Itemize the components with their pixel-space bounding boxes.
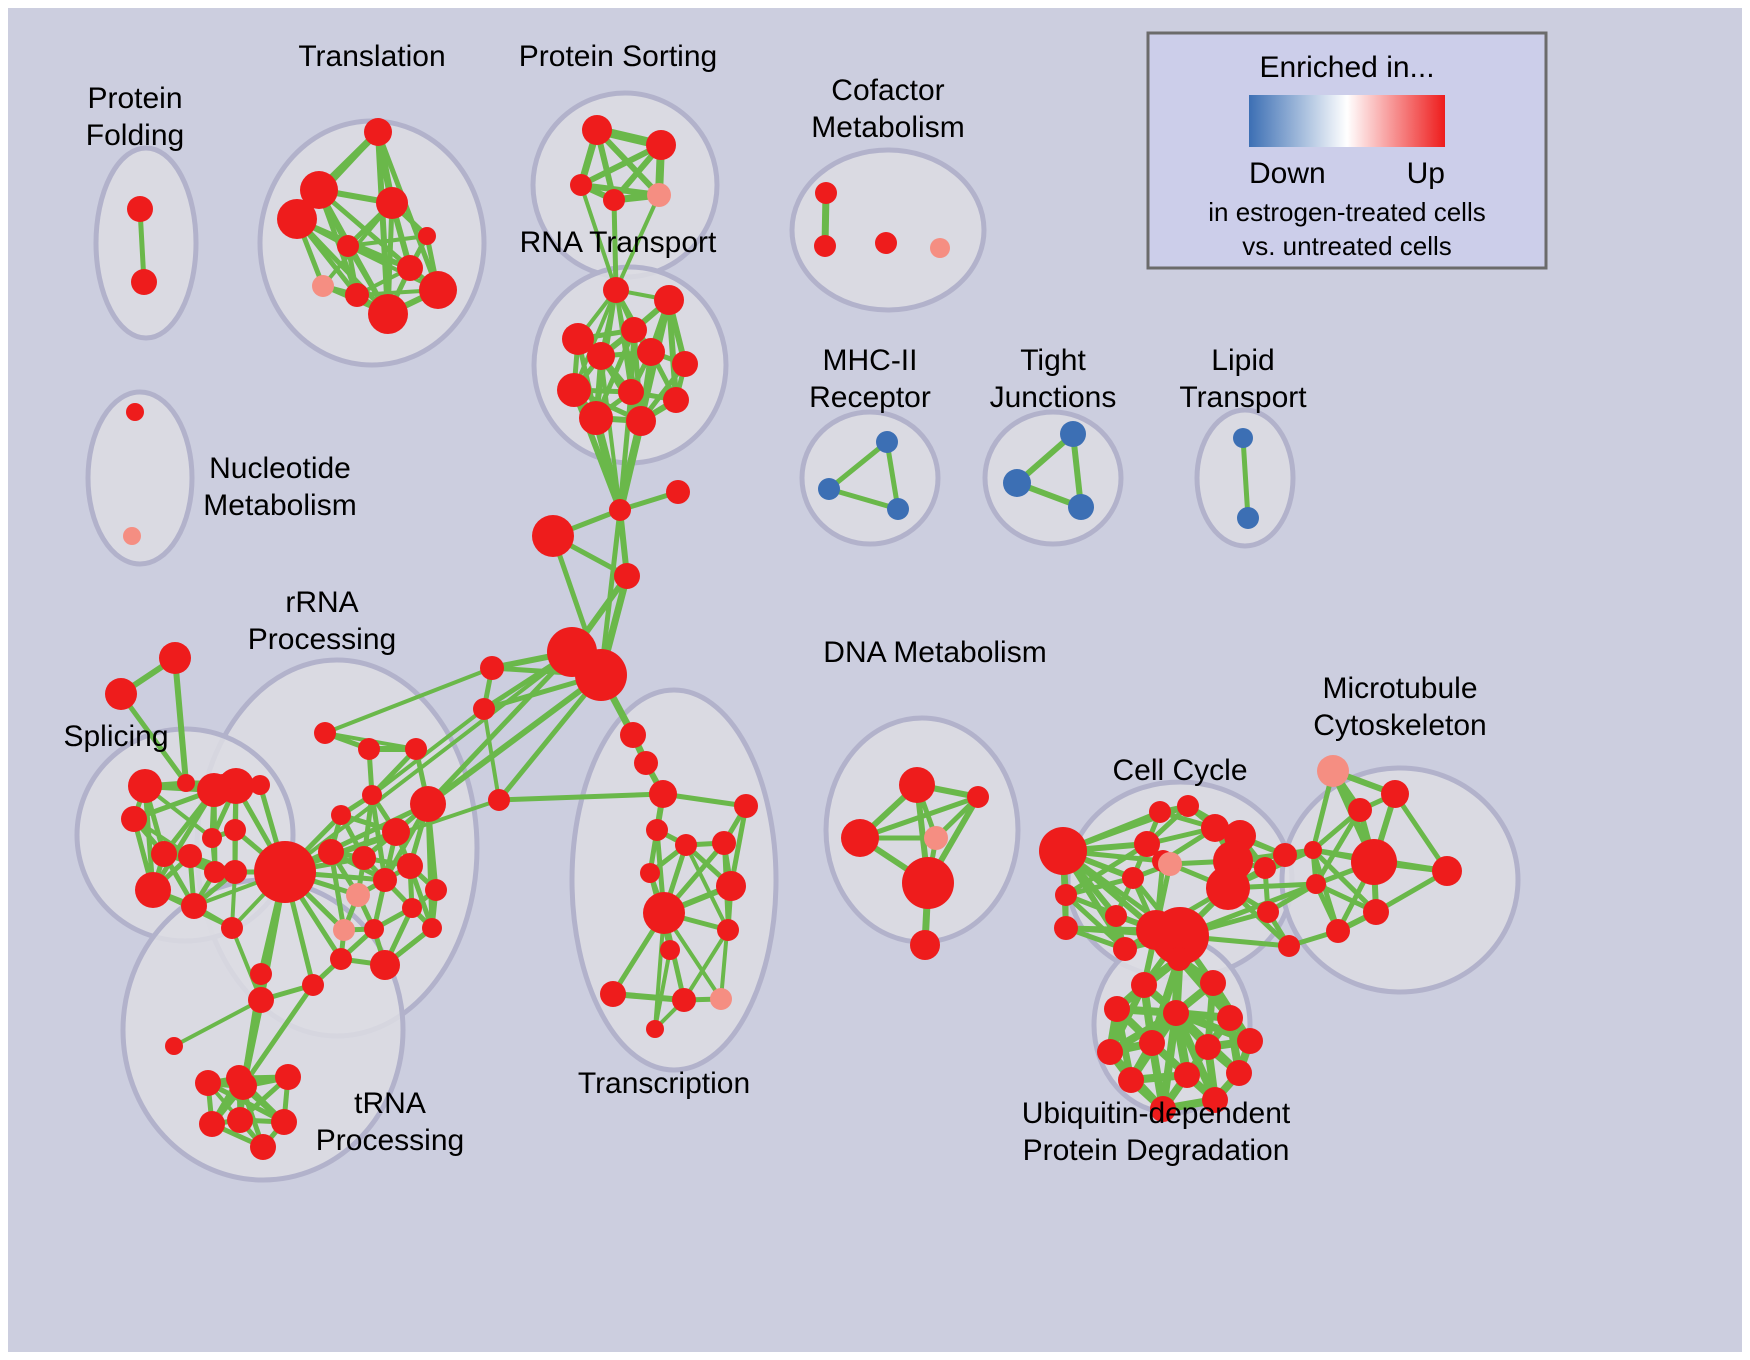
network-node[interactable]	[1003, 469, 1031, 497]
network-node[interactable]	[318, 839, 344, 865]
network-node[interactable]	[910, 930, 940, 960]
network-node[interactable]	[609, 499, 631, 521]
network-node[interactable]	[151, 841, 177, 867]
network-node[interactable]	[358, 738, 380, 760]
network-node[interactable]	[250, 1134, 276, 1160]
network-node[interactable]	[582, 115, 612, 145]
network-node[interactable]	[1226, 1060, 1252, 1086]
network-node[interactable]	[202, 828, 222, 848]
cluster-label-rrna-processing: rRNAProcessing	[248, 586, 396, 656]
legend-label-down: Down	[1249, 157, 1326, 190]
network-node[interactable]	[397, 255, 423, 281]
network-node[interactable]	[364, 118, 392, 146]
network-node[interactable]	[312, 275, 334, 297]
network-node[interactable]	[614, 563, 640, 589]
network-node[interactable]	[1131, 972, 1157, 998]
network-node[interactable]	[1167, 947, 1191, 971]
network-node[interactable]	[226, 1065, 252, 1091]
cluster-label-transcription: Transcription	[578, 1067, 750, 1100]
network-node[interactable]	[345, 283, 369, 307]
network-node[interactable]	[620, 722, 646, 748]
network-node[interactable]	[1139, 1030, 1165, 1056]
network-node[interactable]	[337, 235, 359, 257]
network-node[interactable]	[331, 805, 351, 825]
cluster-ellipse-cofactor-metabolism[interactable]	[792, 150, 984, 310]
network-node[interactable]	[271, 1109, 297, 1135]
network-node[interactable]	[814, 235, 836, 257]
network-node[interactable]	[716, 871, 746, 901]
network-node[interactable]	[422, 918, 442, 938]
network-node[interactable]	[277, 199, 317, 239]
network-node[interactable]	[557, 373, 591, 407]
network-node[interactable]	[1149, 801, 1171, 823]
network-node[interactable]	[643, 892, 685, 934]
network-node[interactable]	[221, 917, 243, 939]
network-node[interactable]	[1273, 843, 1297, 867]
network-node[interactable]	[1113, 937, 1137, 961]
network-node[interactable]	[1206, 866, 1250, 910]
network-node[interactable]	[660, 940, 680, 960]
network-node[interactable]	[603, 189, 625, 211]
network-node[interactable]	[480, 656, 504, 680]
cluster-label-mhc-ii-receptor: MHC-IIReceptor	[809, 344, 931, 414]
network-node[interactable]	[1326, 919, 1350, 943]
cluster-label-tight-junctions: TightJunctions	[990, 344, 1117, 414]
network-node[interactable]	[575, 649, 627, 701]
network-node[interactable]	[654, 285, 684, 315]
network-node[interactable]	[181, 893, 207, 919]
network-node[interactable]	[646, 1020, 664, 1038]
cluster-label-microtubule-cytoskeleton: MicrotubuleCytoskeleton	[1313, 672, 1486, 742]
network-node[interactable]	[717, 919, 739, 941]
network-node[interactable]	[1122, 867, 1144, 889]
network-node[interactable]	[1104, 996, 1130, 1022]
network-node[interactable]	[532, 515, 574, 557]
cluster-label-lipid-transport: LipidTransport	[1179, 344, 1307, 414]
network-node[interactable]	[195, 1070, 221, 1096]
network-node[interactable]	[899, 767, 935, 803]
network-node[interactable]	[248, 987, 274, 1013]
network-node[interactable]	[637, 338, 665, 366]
network-node[interactable]	[204, 861, 226, 883]
network-node[interactable]	[382, 818, 410, 846]
cluster-label-translation: Translation	[298, 40, 445, 73]
network-node[interactable]	[875, 232, 897, 254]
network-node[interactable]	[1055, 884, 1077, 906]
network-node[interactable]	[626, 406, 656, 436]
network-node[interactable]	[1060, 421, 1086, 447]
network-node[interactable]	[675, 834, 697, 856]
network-node[interactable]	[126, 403, 144, 421]
cluster-ellipse-protein-folding[interactable]	[96, 148, 196, 338]
network-node[interactable]	[1432, 856, 1462, 886]
network-node[interactable]	[634, 751, 658, 775]
network-node[interactable]	[165, 1037, 183, 1055]
network-node[interactable]	[121, 806, 147, 832]
network-node[interactable]	[223, 860, 247, 884]
network-node[interactable]	[640, 863, 660, 883]
network-node[interactable]	[1217, 1005, 1243, 1031]
network-node[interactable]	[924, 826, 948, 850]
network-node[interactable]	[333, 919, 355, 941]
network-node[interactable]	[1363, 899, 1389, 925]
network-node[interactable]	[672, 351, 698, 377]
network-node[interactable]	[419, 271, 457, 309]
network-node[interactable]	[646, 130, 676, 160]
cluster-label-nucleotide-metabolism: NucleotideMetabolism	[203, 452, 356, 522]
network-node[interactable]	[105, 678, 137, 710]
legend-title: Enriched in...	[1259, 51, 1434, 84]
cluster-label-rna-transport: RNA Transport	[520, 226, 717, 259]
network-node[interactable]	[402, 898, 422, 918]
network-node[interactable]	[1118, 1067, 1144, 1093]
cluster-label-splicing: Splicing	[63, 720, 168, 753]
network-node[interactable]	[1097, 1039, 1123, 1065]
network-node[interactable]	[159, 642, 191, 674]
network-node[interactable]	[425, 879, 447, 901]
network-node[interactable]	[841, 819, 879, 857]
network-node[interactable]	[672, 988, 696, 1012]
network-node[interactable]	[967, 786, 989, 808]
network-node[interactable]	[178, 844, 202, 868]
network-node[interactable]	[314, 722, 336, 744]
cluster-label-ubiquitin-protein-degradation: Ubiquitin-dependentProtein Degradation	[1022, 1097, 1291, 1167]
network-node[interactable]	[250, 963, 272, 985]
network-node[interactable]	[712, 831, 736, 855]
network-node[interactable]	[1237, 507, 1259, 529]
network-node[interactable]	[1163, 1000, 1189, 1026]
legend-label-up: Up	[1407, 157, 1445, 190]
network-node[interactable]	[364, 919, 384, 939]
network-node[interactable]	[370, 950, 400, 980]
network-node[interactable]	[376, 187, 408, 219]
network-node[interactable]	[224, 819, 246, 841]
network-node[interactable]	[1054, 916, 1078, 940]
network-node[interactable]	[1105, 905, 1127, 927]
cluster-label-cell-cycle: Cell Cycle	[1112, 754, 1247, 787]
network-node[interactable]	[1381, 780, 1409, 808]
network-node[interactable]	[1195, 1034, 1221, 1060]
network-node[interactable]	[127, 196, 153, 222]
network-node[interactable]	[815, 182, 837, 204]
network-node[interactable]	[887, 498, 909, 520]
cluster-label-dna-metabolism: DNA Metabolism	[823, 636, 1046, 669]
network-node[interactable]	[1351, 839, 1397, 885]
network-node[interactable]	[1304, 841, 1322, 859]
network-node[interactable]	[647, 183, 671, 207]
network-node[interactable]	[1348, 798, 1372, 822]
network-node[interactable]	[405, 738, 427, 760]
network-node[interactable]	[128, 769, 162, 803]
network-node[interactable]	[1233, 428, 1253, 448]
cluster-label-protein-sorting: Protein Sorting	[519, 40, 717, 73]
network-node[interactable]	[397, 853, 423, 879]
network-node[interactable]	[1237, 1028, 1263, 1054]
network-node[interactable]	[199, 1111, 225, 1137]
legend-caption-line1: in estrogen-treated cells	[1208, 197, 1485, 227]
figure-canvas: ProteinFoldingTranslationProtein Sorting…	[0, 0, 1750, 1360]
network-node[interactable]	[1200, 970, 1226, 996]
network-node[interactable]	[666, 480, 690, 504]
network-node[interactable]	[346, 883, 370, 907]
network-node[interactable]	[649, 780, 677, 808]
network-node[interactable]	[1174, 1062, 1200, 1088]
network-node[interactable]	[227, 1107, 253, 1133]
network-node[interactable]	[587, 342, 615, 370]
network-node[interactable]	[1158, 852, 1182, 876]
network-node[interactable]	[214, 774, 232, 792]
network-node[interactable]	[1177, 795, 1199, 817]
network-node[interactable]	[368, 294, 408, 334]
cluster-label-protein-folding: ProteinFolding	[86, 82, 184, 152]
network-node[interactable]	[663, 387, 689, 413]
cluster-label-cofactor-metabolism: CofactorMetabolism	[811, 74, 964, 144]
network-node[interactable]	[410, 786, 446, 822]
network-node[interactable]	[488, 789, 510, 811]
network-node[interactable]	[135, 872, 171, 908]
network-node[interactable]	[418, 227, 436, 245]
network-node[interactable]	[1068, 494, 1094, 520]
network-node[interactable]	[818, 478, 840, 500]
network-node[interactable]	[131, 269, 157, 295]
network-graph: ProteinFoldingTranslationProtein Sorting…	[0, 0, 1750, 1360]
network-node[interactable]	[250, 775, 270, 795]
network-node[interactable]	[1317, 755, 1349, 787]
cluster-ellipse-mhc-ii-receptor[interactable]	[802, 412, 938, 544]
network-node[interactable]	[600, 981, 626, 1007]
network-node[interactable]	[1257, 901, 1279, 923]
legend-colorbar	[1249, 95, 1445, 147]
legend-caption-line2: vs. untreated cells	[1242, 231, 1452, 261]
network-node[interactable]	[362, 785, 382, 805]
network-node[interactable]	[254, 841, 316, 903]
network-node[interactable]	[473, 698, 495, 720]
network-node[interactable]	[302, 974, 324, 996]
network-node[interactable]	[710, 988, 732, 1010]
network-node[interactable]	[1278, 935, 1300, 957]
network-node[interactable]	[330, 948, 352, 970]
network-node[interactable]	[373, 868, 397, 892]
network-node[interactable]	[646, 819, 668, 841]
network-node[interactable]	[177, 774, 195, 792]
network-node[interactable]	[275, 1064, 301, 1090]
network-node[interactable]	[579, 401, 613, 435]
network-node[interactable]	[618, 379, 644, 405]
network-node[interactable]	[570, 174, 592, 196]
network-node[interactable]	[876, 431, 898, 453]
network-node[interactable]	[352, 846, 376, 870]
network-node[interactable]	[621, 317, 647, 343]
network-node[interactable]	[1039, 827, 1087, 875]
network-node[interactable]	[123, 527, 141, 545]
network-node[interactable]	[603, 277, 629, 303]
network-node[interactable]	[930, 238, 950, 258]
network-node[interactable]	[1306, 874, 1326, 894]
network-node[interactable]	[902, 857, 954, 909]
network-node[interactable]	[734, 794, 758, 818]
legend: Enriched in...DownUpin estrogen-treated …	[1148, 33, 1546, 268]
network-node[interactable]	[1254, 857, 1276, 879]
